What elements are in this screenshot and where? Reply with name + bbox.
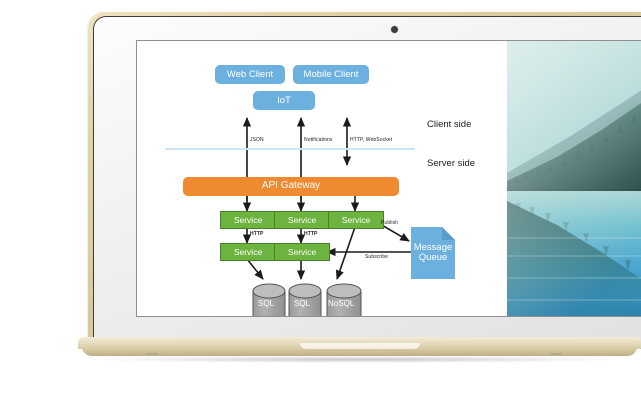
- webcam-icon: [391, 26, 398, 33]
- presentation-slide: Web Client Mobile Client IoT Client side…: [137, 41, 505, 316]
- laptop-shadow: [84, 356, 632, 363]
- label-db-sql-2: SQL: [294, 299, 310, 308]
- node-label: Mobile Client: [304, 70, 359, 80]
- label-notifications: Notifications: [304, 137, 333, 143]
- laptop-screen: Web Client Mobile Client IoT Client side…: [136, 40, 641, 317]
- node-service-2[interactable]: Service: [274, 211, 330, 229]
- label-http-2: HTTP: [304, 231, 317, 237]
- label-http-websocket: HTTP, WebSocket: [350, 137, 392, 143]
- node-service-5[interactable]: Service: [274, 243, 330, 261]
- node-label: Web Client: [227, 70, 273, 80]
- laptop-base-notch: [300, 343, 420, 349]
- label-json: JSON: [250, 137, 264, 143]
- laptop-foot-right: [550, 353, 562, 355]
- node-label: Service: [234, 248, 262, 257]
- node-iot[interactable]: IoT: [253, 91, 315, 110]
- label-http-1: HTTP: [250, 231, 263, 237]
- label-client-side: Client side: [427, 119, 471, 130]
- desktop-wallpaper: [507, 41, 641, 316]
- label-subscribe: Subscribe: [365, 254, 388, 260]
- node-api-gateway[interactable]: API Gateway: [183, 177, 399, 196]
- node-web-client[interactable]: Web Client: [215, 65, 285, 84]
- node-service-1[interactable]: Service: [220, 211, 276, 229]
- label-server-side: Server side: [427, 158, 475, 169]
- node-label-line2: Queue: [419, 253, 448, 263]
- label-publish: Publish: [381, 220, 398, 226]
- label-db-nosql-1: NoSQL: [328, 299, 354, 308]
- client-server-divider: [165, 148, 415, 150]
- node-label: Service: [288, 216, 316, 225]
- label-db-sql-1: SQL: [258, 299, 274, 308]
- screenshot-root: Web Client Mobile Client IoT Client side…: [0, 0, 641, 401]
- node-service-4[interactable]: Service: [220, 243, 276, 261]
- node-label: Service: [234, 216, 262, 225]
- laptop-device: Web Client Mobile Client IoT Client side…: [88, 12, 641, 342]
- node-label: Service: [288, 248, 316, 257]
- node-mobile-client[interactable]: Mobile Client: [293, 65, 369, 84]
- node-label: IoT: [277, 96, 291, 106]
- node-label: Service: [342, 216, 370, 225]
- node-message-queue[interactable]: Message Queue: [411, 231, 455, 275]
- node-service-3[interactable]: Service: [328, 211, 384, 229]
- laptop-foot-left: [146, 353, 158, 355]
- node-label: API Gateway: [262, 181, 320, 192]
